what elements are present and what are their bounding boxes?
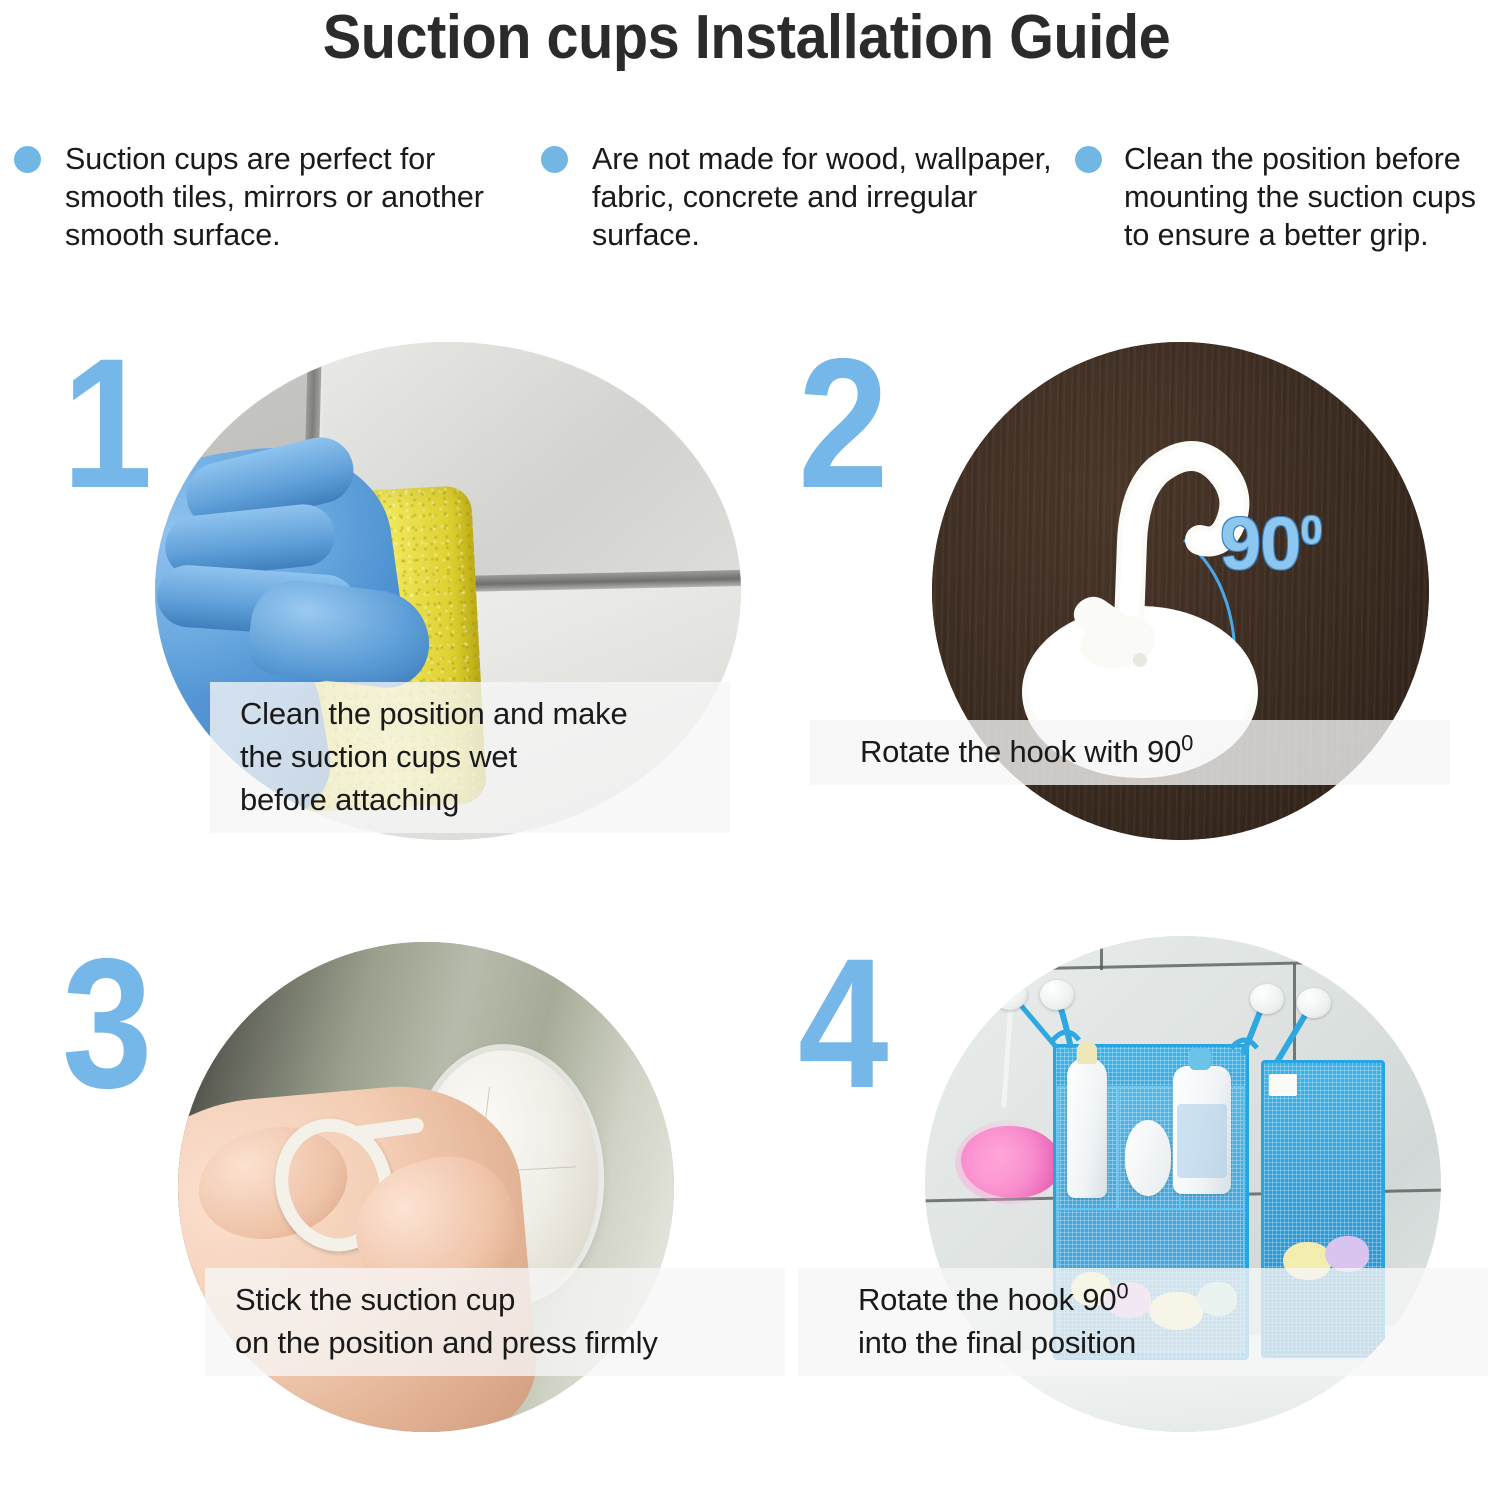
- step-2-caption-line-1: Rotate the hook with 900: [860, 730, 1436, 773]
- suction-cup-hook: [993, 980, 1027, 1010]
- step-1-caption-line-2: the suction cups wet: [240, 735, 716, 778]
- step-4-caption: Rotate the hook 900 into the final posit…: [798, 1268, 1488, 1376]
- step-2-caption: Rotate the hook with 900: [810, 720, 1450, 785]
- suction-cup-hook: [1297, 988, 1331, 1018]
- step-number-4: 4: [798, 932, 889, 1117]
- bullet-text-3: Clean the position before mounting the s…: [1124, 140, 1493, 254]
- bullet-item-3: Clean the position before mounting the s…: [1057, 140, 1493, 280]
- bullet-dot-icon: [14, 146, 41, 173]
- bullet-text-2: Are not made for wood, wallpaper, fabric…: [592, 140, 1057, 254]
- bullet-item-1: Suction cups are perfect for smooth tile…: [0, 140, 527, 280]
- angle-value: 90: [1220, 502, 1300, 585]
- bullet-dot-icon: [541, 146, 568, 173]
- step-3-caption: Stick the suction cup on the position an…: [205, 1268, 785, 1376]
- installation-guide-page: Suction cups Installation Guide Suction …: [0, 0, 1493, 1500]
- step-number-3: 3: [62, 932, 153, 1117]
- suction-cup-hook: [1250, 984, 1284, 1014]
- step-number-2: 2: [798, 332, 889, 517]
- rotation-angle-annotation: 900: [1220, 507, 1322, 581]
- degree-symbol: 0: [1181, 731, 1193, 756]
- step-4-caption-line-2: into the final position: [858, 1321, 1474, 1364]
- step-1: 1 Clean the position and make the suctio…: [0, 300, 760, 900]
- degree-symbol: 0: [1116, 1279, 1128, 1304]
- step-1-caption-line-3: before attaching: [240, 778, 716, 821]
- step-4: 4: [760, 900, 1493, 1500]
- step-number-1: 1: [62, 332, 153, 517]
- suction-cup-hook: [1040, 980, 1074, 1010]
- step-3-caption-line-1: Stick the suction cup: [235, 1278, 771, 1321]
- step-4-caption-line-1: Rotate the hook 900: [858, 1278, 1474, 1321]
- step-3-caption-line-2: on the position and press firmly: [235, 1321, 771, 1364]
- bullet-item-2: Are not made for wood, wallpaper, fabric…: [527, 140, 1057, 280]
- angle-degree-symbol: 0: [1300, 508, 1321, 552]
- steps-grid: 1 Clean the position and make the suctio…: [0, 300, 1493, 1500]
- step-1-caption-line-1: Clean the position and make: [240, 692, 716, 735]
- step-1-caption: Clean the position and make the suction …: [210, 682, 730, 833]
- step-3: 3 Stick the suction cup on the position …: [0, 900, 760, 1500]
- page-title: Suction cups Installation Guide: [52, 2, 1440, 73]
- bullet-text-1: Suction cups are perfect for smooth tile…: [65, 140, 527, 254]
- hook-pivot: [1133, 653, 1147, 667]
- bullet-dot-icon: [1075, 146, 1102, 173]
- step-2: 2 900: [760, 300, 1493, 900]
- feature-bullets: Suction cups are perfect for smooth tile…: [0, 140, 1493, 280]
